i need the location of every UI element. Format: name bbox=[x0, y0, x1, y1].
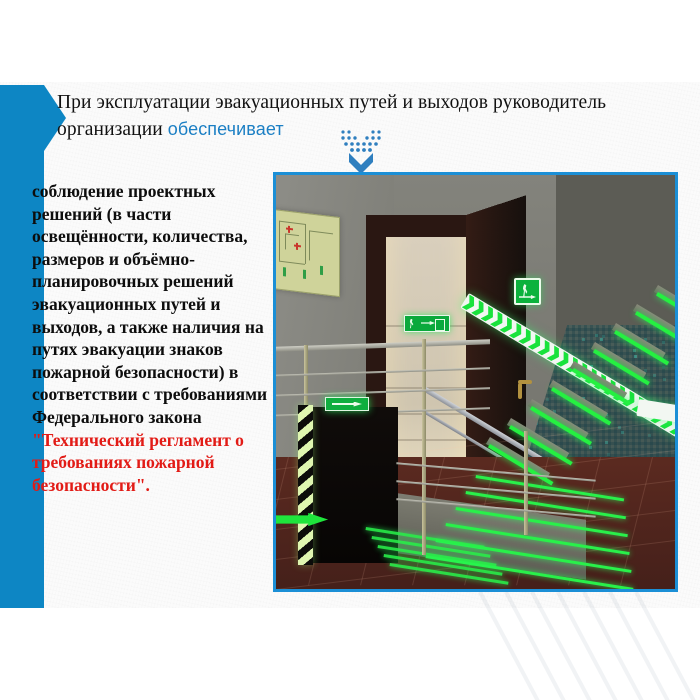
mosaic-tile-speck bbox=[663, 378, 666, 381]
mosaic-tile-speck bbox=[648, 434, 651, 437]
running-man-exit-pictogram bbox=[514, 278, 541, 305]
exit-sign-icon-basement bbox=[325, 397, 369, 411]
exit-sign-icon bbox=[404, 315, 450, 332]
mosaic-tile-speck bbox=[602, 335, 605, 338]
photo-scene bbox=[276, 175, 675, 589]
mosaic-tile-speck bbox=[600, 338, 603, 341]
mosaic-tile-speck bbox=[633, 349, 636, 352]
mosaic-tile-speck bbox=[634, 355, 637, 358]
body-paragraph: соблюдение проектных решений (в части ос… bbox=[32, 181, 267, 427]
mosaic-tile-speck bbox=[595, 334, 598, 337]
heading-main-text: При эксплуатации эвакуационных путей и в… bbox=[57, 92, 606, 140]
floor-grout-line bbox=[620, 457, 653, 585]
scene-door-handle-stem bbox=[518, 383, 522, 399]
mosaic-tile-speck bbox=[589, 446, 592, 449]
mosaic-tile-speck bbox=[546, 398, 549, 401]
mosaic-tile-speck bbox=[605, 441, 608, 444]
heading-highlight-text: обеспечивает bbox=[168, 119, 284, 139]
scene-lower-rail-post bbox=[524, 431, 528, 535]
law-title-text: "Технический регламент о требованиях пож… bbox=[32, 430, 244, 495]
mosaic-tile-speck bbox=[662, 366, 665, 369]
mosaic-tile-speck bbox=[582, 338, 585, 341]
scene-lower-rail-post bbox=[422, 443, 426, 555]
mosaic-tile-speck bbox=[653, 374, 656, 377]
black-yellow-hazard-stripes bbox=[298, 405, 313, 565]
slide-root: При эксплуатации эвакуационных путей и в… bbox=[0, 0, 700, 700]
scene-rail-post bbox=[422, 339, 426, 459]
mosaic-tile-speck bbox=[662, 341, 665, 344]
body-text-column: соблюдение проектных решений (в части ос… bbox=[32, 180, 270, 496]
chevron-down-icon bbox=[333, 128, 389, 176]
mosaic-tile-speck bbox=[621, 431, 624, 434]
evacuation-plan-poster bbox=[276, 209, 340, 297]
mosaic-tile-speck bbox=[607, 453, 610, 456]
stairwell-photo bbox=[273, 172, 678, 592]
